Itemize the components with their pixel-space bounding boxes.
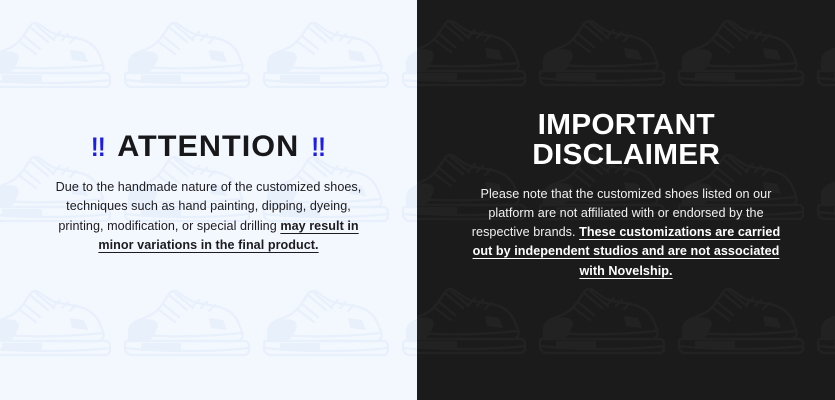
disclaimer-heading-line-2: DISCLAIMER <box>532 141 720 171</box>
attention-heading-text: ATTENTION <box>117 132 299 163</box>
customization-disclaimer-banner: !! ATTENTION !! Due to the handmade natu… <box>0 0 835 400</box>
attention-heading: !! ATTENTION !! <box>90 132 327 163</box>
disclaimer-panel: IMPORTANT DISCLAIMER Please note that th… <box>417 0 835 400</box>
double-exclamation-icon-left: !! <box>91 134 105 162</box>
attention-body-text: Due to the handmade nature of the custom… <box>49 178 369 256</box>
disclaimer-heading-line-1: IMPORTANT <box>532 111 720 141</box>
disclaimer-body-text: Please note that the customized shoes li… <box>461 185 791 281</box>
disclaimer-heading: IMPORTANT DISCLAIMER <box>532 111 720 171</box>
attention-panel: !! ATTENTION !! Due to the handmade natu… <box>0 0 417 400</box>
double-exclamation-icon-right: !! <box>312 134 326 162</box>
